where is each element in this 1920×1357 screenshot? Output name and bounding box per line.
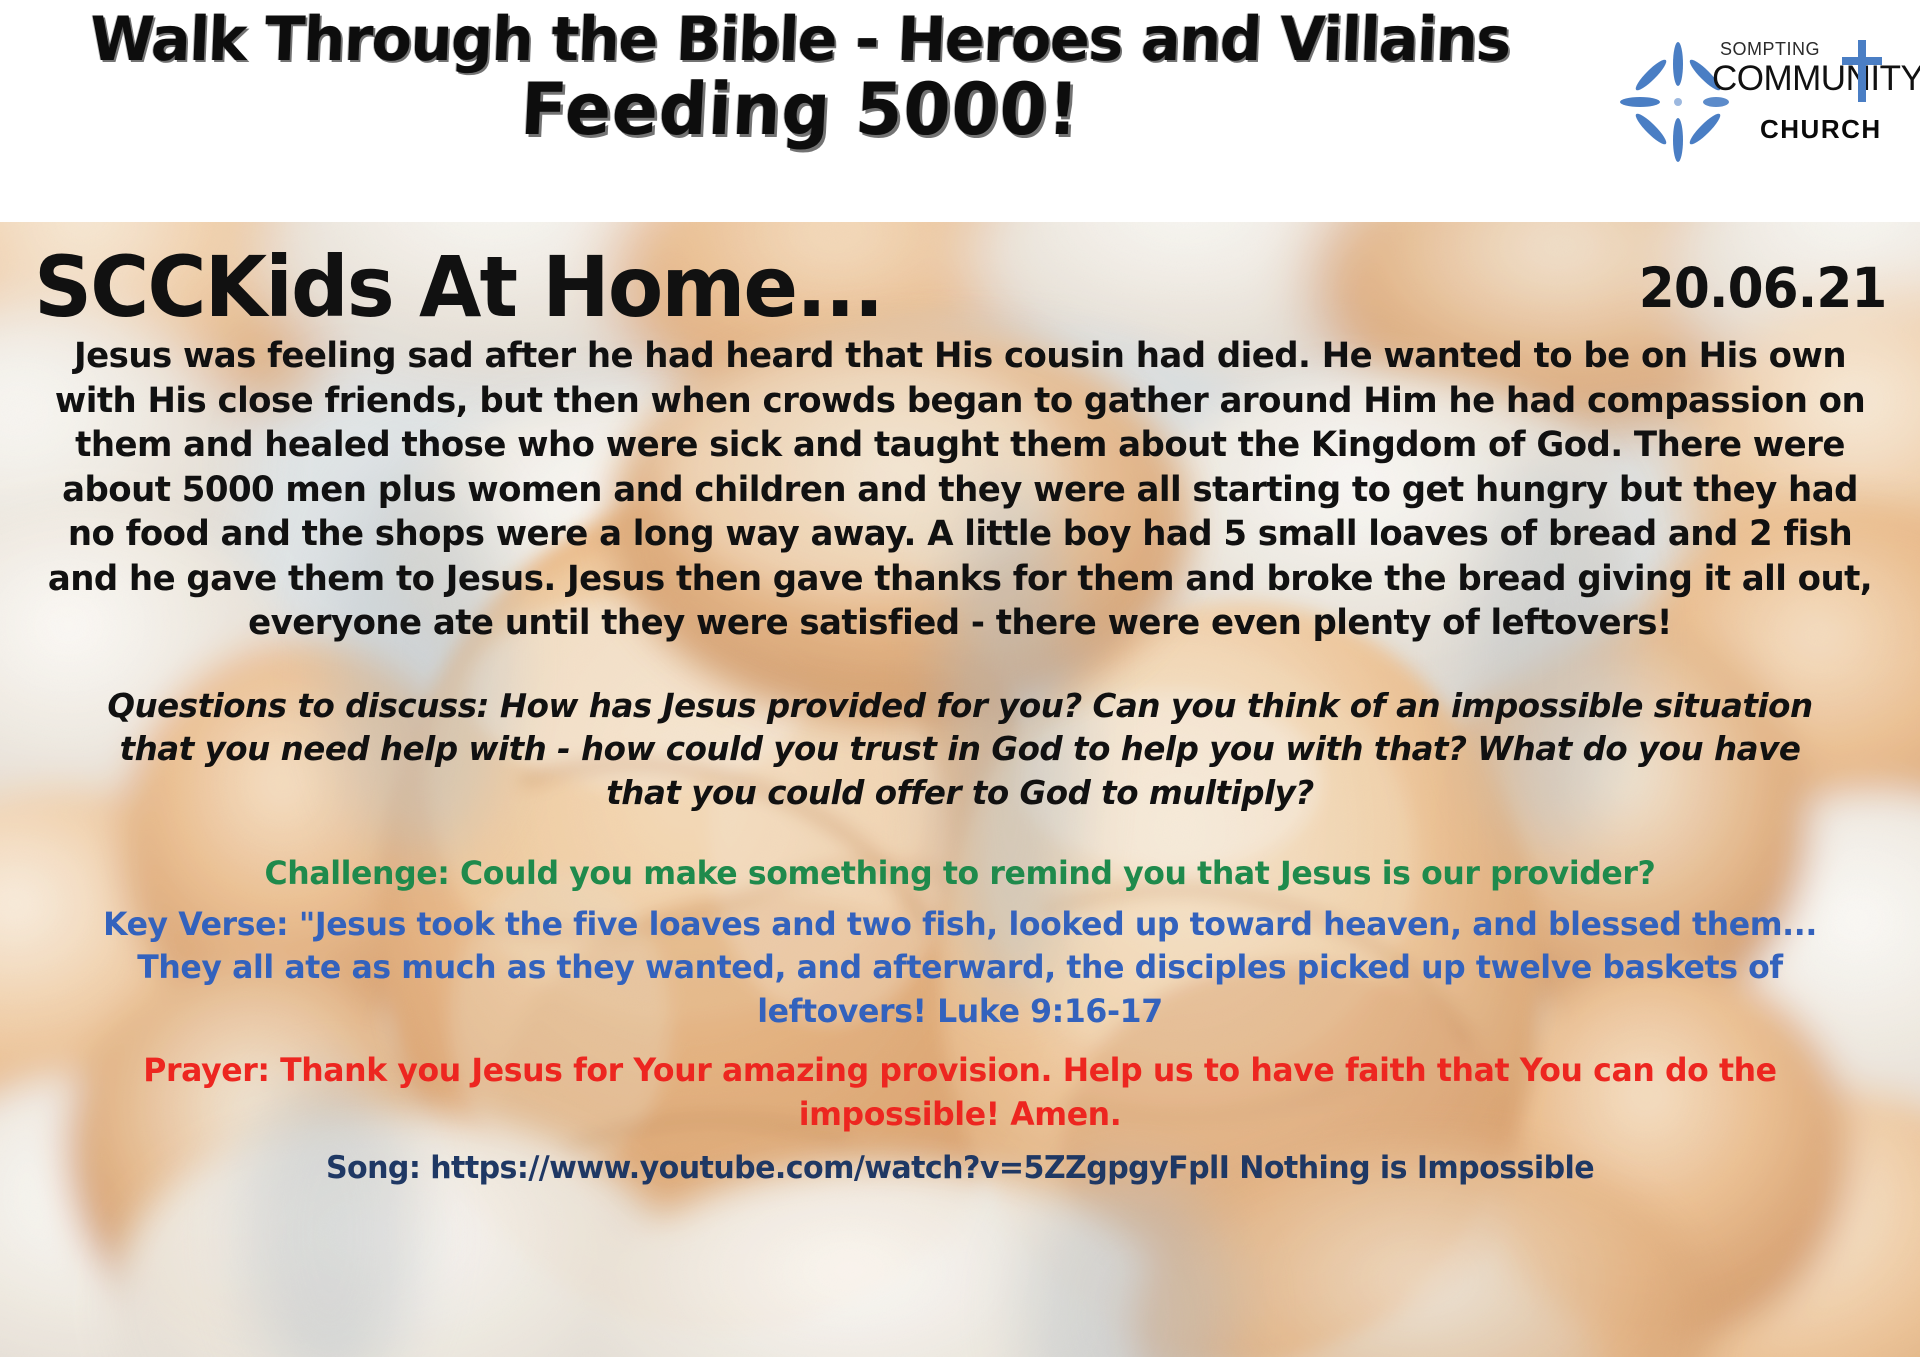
key-verse-paragraph: Key Verse: "Jesus took the five loaves a… xyxy=(36,903,1884,1034)
lesson-title: Feeding 5000! xyxy=(519,70,1081,149)
poster-root: Walk Through the Bible - Heroes and Vill… xyxy=(0,0,1920,1357)
logo-line-church: CHURCH xyxy=(1760,114,1882,145)
logo-line-sompting: SOMPTING xyxy=(1720,39,1820,60)
story-paragraph: Jesus was feeling sad after he had heard… xyxy=(36,334,1884,646)
church-logo: SOMPTING COMMUNITY CHURCH xyxy=(1620,26,1900,176)
challenge-line: Challenge: Could you make something to r… xyxy=(36,853,1884,895)
poster-content: SCCKids At Home... 20.06.21 Jesus was fe… xyxy=(0,222,1920,1357)
header-titles: Walk Through the Bible - Heroes and Vill… xyxy=(0,0,1600,222)
date-label: 20.06.21 xyxy=(1638,256,1886,328)
questions-paragraph: Questions to discuss: How has Jesus prov… xyxy=(36,684,1884,816)
header-band: Walk Through the Bible - Heroes and Vill… xyxy=(0,0,1920,222)
logo-line-community: COMMUNITY xyxy=(1712,59,1920,99)
prayer-paragraph: Prayer: Thank you Jesus for Your amazing… xyxy=(36,1049,1884,1136)
page-title: SCCKids At Home... xyxy=(34,246,882,328)
series-title: Walk Through the Bible - Heroes and Vill… xyxy=(89,6,1512,74)
title-row: SCCKids At Home... 20.06.21 xyxy=(22,222,1898,328)
cross-icon xyxy=(1840,40,1884,102)
song-link-line[interactable]: Song: https://www.youtube.com/watch?v=5Z… xyxy=(50,1150,1870,1187)
logo-text: SOMPTING COMMUNITY CHURCH xyxy=(1712,34,1902,174)
